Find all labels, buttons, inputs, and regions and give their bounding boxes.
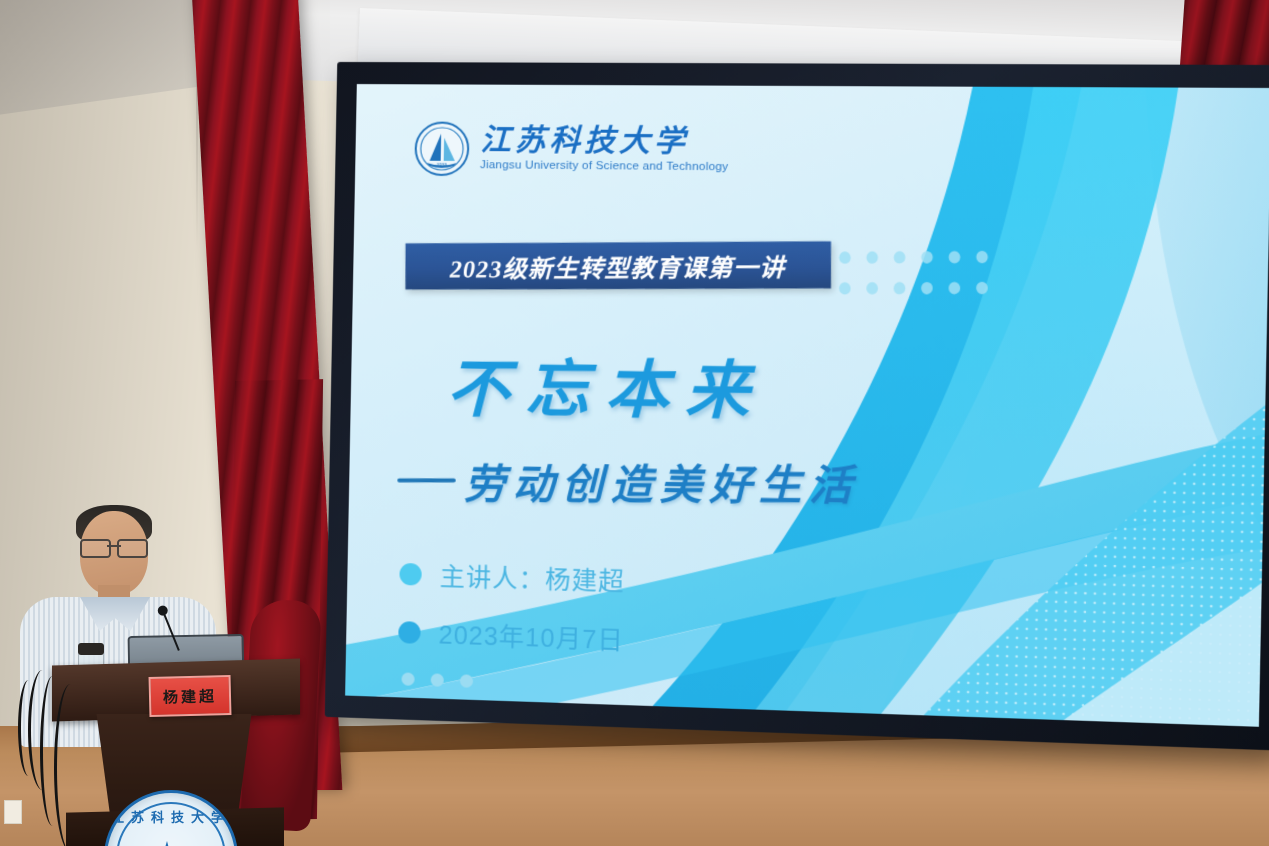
svg-text:1933: 1933 — [437, 163, 448, 168]
bullet-icon — [398, 621, 421, 644]
slide-subtitle-dash — [397, 478, 455, 482]
cable-bundle — [10, 670, 130, 846]
slide-surface: 1933 江苏科技大学 Jiangsu University of Scienc… — [345, 84, 1269, 727]
logo-name-en: Jiangsu University of Science and Techno… — [480, 160, 729, 174]
list-item: 2023年10月7日 — [398, 614, 624, 657]
podium-nameplate: 杨建超 — [149, 675, 232, 717]
slide-university-logo: 1933 江苏科技大学 Jiangsu University of Scienc… — [413, 120, 729, 179]
lecture-hall-photo: 1933 江苏科技大学 Jiangsu University of Scienc… — [0, 0, 1269, 846]
slide-subtitle-row: 劳动创造美好生活 — [397, 450, 859, 512]
slide-presenter-label: 主讲人：杨建超 — [439, 557, 625, 599]
slide-course-banner: 2023级新生转型教育课第一讲 — [405, 241, 831, 289]
slide-subtitle-text: 劳动创造美好生活 — [464, 450, 860, 512]
nameplate-text: 杨建超 — [163, 685, 218, 707]
slide-dot-grid — [839, 251, 1004, 313]
slide-banner-text: 2023级新生转型教育课第一讲 — [450, 247, 785, 284]
logo-name-cn: 江苏科技大学 — [480, 126, 729, 158]
slide-title-main: 不忘本来 — [446, 338, 766, 431]
glasses-icon — [80, 539, 148, 555]
wall-socket — [4, 800, 22, 824]
projection-screen: 1933 江苏科技大学 Jiangsu University of Scienc… — [325, 62, 1269, 750]
sailboat-seal-icon: 1933 — [413, 120, 471, 177]
slide-footer-dots — [401, 672, 623, 692]
list-item: 主讲人：杨建超 — [399, 556, 625, 599]
slide-date-label: 2023年10月7日 — [438, 615, 624, 657]
slide-meta-list: 主讲人：杨建超 2023年10月7日 — [397, 556, 625, 693]
bullet-icon — [399, 563, 422, 586]
